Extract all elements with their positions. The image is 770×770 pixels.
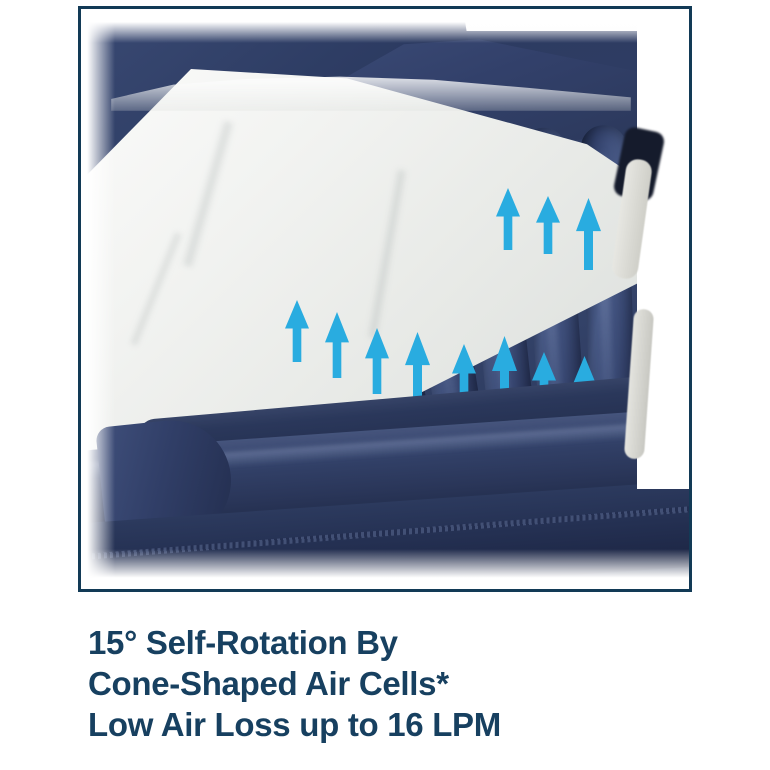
caption-line-3: Low Air Loss up to 16 LPM: [88, 704, 708, 745]
caption-line-1: 15° Self-Rotation By: [88, 622, 708, 663]
airflow-arrow-icon: [285, 300, 309, 362]
product-photo: [81, 9, 689, 589]
product-photo-frame: [78, 6, 692, 592]
caption-line-2: Cone-Shaped Air Cells*: [88, 663, 708, 704]
photo-top-fade: [81, 9, 689, 43]
caption-block: 15° Self-Rotation By Cone-Shaped Air Cel…: [88, 622, 708, 745]
airflow-arrow-icon: [496, 188, 520, 250]
airflow-arrow-icon: [536, 196, 560, 254]
airflow-arrow-icon: [325, 312, 349, 378]
photo-bottom-fade: [81, 549, 689, 589]
airflow-arrow-icon: [365, 328, 389, 394]
airflow-arrow-icon: [576, 198, 601, 270]
photo-left-fade: [81, 9, 115, 589]
airflow-arrow-icon: [405, 332, 430, 404]
